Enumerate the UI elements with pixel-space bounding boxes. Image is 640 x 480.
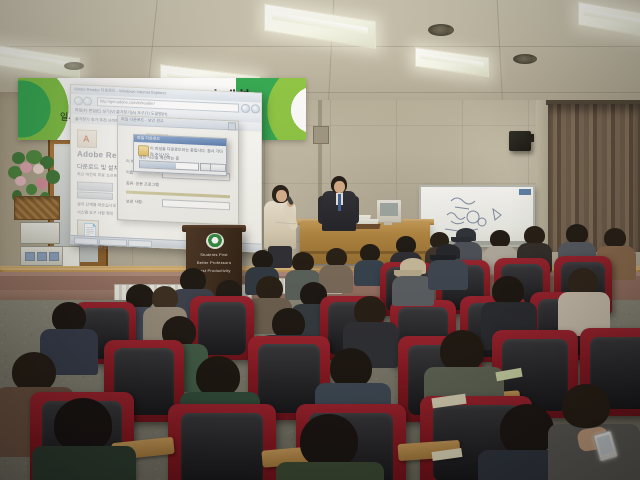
monitor-screen <box>380 203 398 216</box>
recessed-downlight-icon <box>513 54 537 64</box>
moderator-face <box>334 181 345 193</box>
download-progress-dialog[interactable]: 파일 다운로드 이 파일을 다운로드하는 중입니다. 잠시 기다려 주십시오. … <box>133 134 227 176</box>
taskbar-item[interactable] <box>128 240 152 248</box>
download-window-title: 파일 다운로드 - 보안 경고 <box>121 116 164 124</box>
recessed-downlight-icon <box>64 62 84 70</box>
close-icon[interactable] <box>228 122 236 130</box>
ceiling-light-fixture <box>264 3 376 49</box>
adobe-logo-icon: A <box>77 129 97 148</box>
browser-refresh-icon[interactable] <box>241 104 250 113</box>
moderator-tie <box>338 194 341 211</box>
browser-stop-icon[interactable] <box>251 104 260 113</box>
page-divider <box>77 191 113 200</box>
page-note-2: 시스템 요구 사항 확인 <box>77 209 113 217</box>
podium-slogan-line-2: Better Professors <box>193 260 235 265</box>
download-type-label: 종류: 응용 프로그램 <box>126 181 159 188</box>
flower-basket <box>14 196 60 220</box>
recessed-downlight-icon <box>428 24 454 36</box>
window-curtain <box>548 104 640 252</box>
download-sender-label: 보낸 사람: <box>126 199 143 206</box>
university-crest-icon <box>206 233 224 249</box>
window-accent-rule <box>126 191 230 199</box>
monitor-stand <box>384 221 392 225</box>
progress-bar-fill <box>140 161 176 169</box>
browser-back-icon[interactable] <box>74 96 83 105</box>
adobe-logo-letter: A <box>83 134 90 144</box>
progress-bar <box>139 160 199 171</box>
podium-slogan-line-1: Students First <box>193 252 235 257</box>
taskbar-item[interactable] <box>74 237 98 245</box>
ceiling-light-fixture <box>415 47 489 77</box>
ceiling-light-fixture <box>578 1 640 38</box>
wall-switch-panel[interactable] <box>20 246 66 266</box>
auditorium-photo: 2 술대회 일시 학부 기초경진대 Adobe Reader 다운로드 - Wi… <box>0 0 640 480</box>
page-divider <box>77 181 113 192</box>
desktop-monitor <box>376 199 402 223</box>
ceiling-light-fixture <box>0 42 80 79</box>
page-note-1: 설치 단계를 따르십시오 <box>77 201 116 209</box>
smartphone-screen <box>596 435 613 456</box>
wall-junction-box <box>313 126 329 144</box>
taskbar-item[interactable] <box>99 238 127 246</box>
auditorium-seat[interactable] <box>168 404 276 480</box>
speaker-bracket <box>527 134 534 142</box>
speaker-face <box>276 190 287 202</box>
browser-forward-icon[interactable] <box>83 97 92 106</box>
wall-control-panel[interactable] <box>20 222 60 244</box>
dialog-title: 파일 다운로드 <box>137 135 160 142</box>
dialog-title-bar: 파일 다운로드 <box>134 135 226 146</box>
dialog-cancel-button[interactable] <box>210 163 226 172</box>
download-sender-value <box>162 199 230 210</box>
